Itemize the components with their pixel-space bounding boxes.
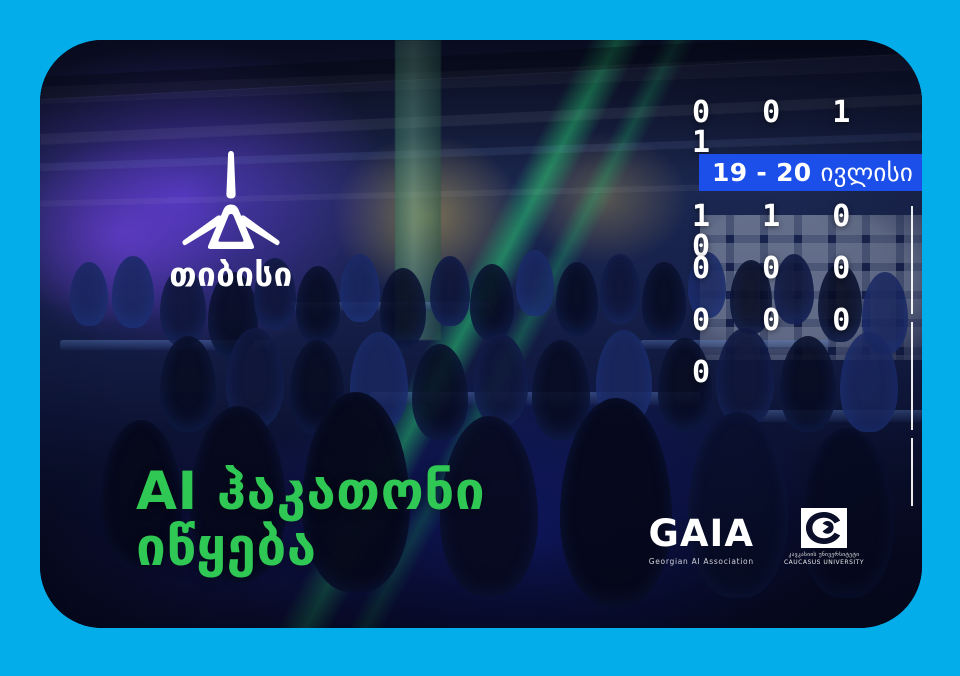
gaia-wordmark: GAIA xyxy=(649,515,754,552)
headline-line-2: იწყება xyxy=(136,520,485,576)
tbc-brand-name: თიბისი xyxy=(126,258,336,291)
gaia-logo: GAIA Georgian AI Association xyxy=(649,515,754,566)
sponsor-logos: GAIA Georgian AI Association კავკასიის უ… xyxy=(649,508,864,566)
caucasus-university-c-mark-icon xyxy=(801,508,847,548)
date-banner: 19 - 20 ივლისი xyxy=(699,154,922,191)
page-title: AI ჰაკათონი იწყება xyxy=(136,464,485,576)
date-range: 19 - 20 xyxy=(712,158,811,187)
binary-decoration: 0 0 1 1 1 1 0 0 0 0 0 0 0 0 0 xyxy=(692,98,922,410)
binary-row: 0 0 0 xyxy=(692,254,922,306)
event-poster: თიბისი 0 0 1 1 1 1 0 0 0 0 0 0 0 0 0 19 … xyxy=(0,0,960,676)
date-month: ივლისი xyxy=(820,158,913,187)
binary-row: 1 1 0 0 xyxy=(692,202,922,254)
binary-row: 0 xyxy=(692,358,922,410)
photo-plate: თიბისი 0 0 1 1 1 1 0 0 0 0 0 0 0 0 0 19 … xyxy=(40,40,922,628)
tbc-triangle-logo-icon xyxy=(175,148,287,252)
binary-row: 0 0 1 1 xyxy=(692,98,922,150)
binary-row: 0 0 0 xyxy=(692,306,922,358)
caucasus-university-logo: კავკასიის უნივერსიტეტი CAUCASUS UNIVERSI… xyxy=(784,508,864,566)
gaia-subtitle: Georgian AI Association xyxy=(649,557,754,566)
tbc-brand-lockup: თიბისი xyxy=(126,148,336,291)
caucasus-university-name-en: CAUCASUS UNIVERSITY xyxy=(784,559,864,566)
vertical-divider-line xyxy=(911,206,913,506)
headline-line-1: AI ჰაკათონი xyxy=(136,461,485,522)
caucasus-university-name-ka: კავკასიის უნივერსიტეტი xyxy=(784,552,864,558)
